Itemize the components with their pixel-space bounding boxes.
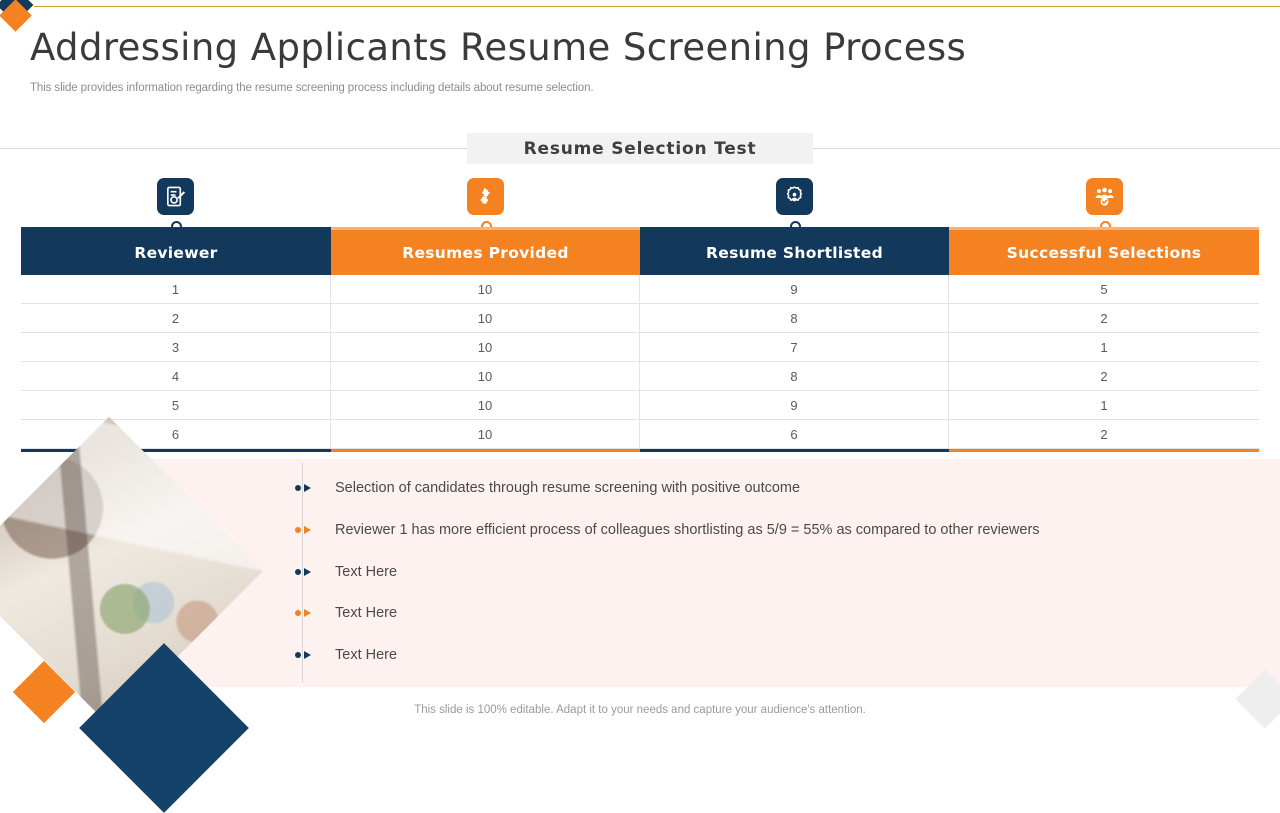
table-cell: 6 xyxy=(640,420,949,449)
table-cell: 7 xyxy=(640,333,949,362)
table-header-3[interactable]: Resume Shortlisted xyxy=(640,230,949,275)
table-row: 11095 xyxy=(21,275,1259,304)
bullet-text: Text Here xyxy=(335,647,397,663)
bullet-item: Text Here xyxy=(294,603,397,623)
table-cell: 10 xyxy=(331,275,640,304)
bullet-text: Text Here xyxy=(335,605,397,621)
table-cell: 2 xyxy=(949,420,1259,449)
table-bottom-accent-3 xyxy=(640,449,949,452)
table-cell: 1 xyxy=(949,333,1259,362)
table-bottom-accent-2 xyxy=(331,449,640,452)
table-cell: 10 xyxy=(331,391,640,420)
table-cell: 5 xyxy=(21,391,331,420)
bullet-item: Reviewer 1 has more efficient process of… xyxy=(294,520,1040,540)
table-cell: 2 xyxy=(949,362,1259,391)
gear-person-icon xyxy=(776,178,813,215)
bullet-item: Text Here xyxy=(294,562,397,582)
table-row: 61062 xyxy=(21,420,1259,449)
bullet-text: Reviewer 1 has more efficient process of… xyxy=(335,522,1040,538)
banner-rule-right xyxy=(812,148,1280,149)
table-cell: 6 xyxy=(21,420,331,449)
footer-note: This slide is 100% editable. Adapt it to… xyxy=(0,704,1280,716)
table-header-row: ReviewerResumes ProvidedResume Shortlist… xyxy=(21,230,1259,275)
page-subtitle: This slide provides information regardin… xyxy=(30,82,593,94)
table-header-2[interactable]: Resumes Provided xyxy=(331,230,640,275)
resume-selection-table: ReviewerResumes ProvidedResume Shortlist… xyxy=(21,227,1259,452)
document-pen-icon xyxy=(157,178,194,215)
table-row: 21082 xyxy=(21,304,1259,333)
bullet-text: Selection of candidates through resume s… xyxy=(335,480,800,496)
page-title: Addressing Applicants Resume Screening P… xyxy=(30,26,966,69)
bullet-arrow-icon xyxy=(294,648,316,662)
bullet-arrow-icon xyxy=(294,565,316,579)
table-cell: 10 xyxy=(331,304,640,333)
table-cell: 8 xyxy=(640,362,949,391)
table-cell: 1 xyxy=(21,275,331,304)
group-check-icon xyxy=(1086,178,1123,215)
bullet-arrow-icon xyxy=(294,606,316,620)
table-cell: 3 xyxy=(21,333,331,362)
bullet-text: Text Here xyxy=(335,564,397,580)
table-bottom-accent-4 xyxy=(949,449,1259,452)
table-cell: 2 xyxy=(949,304,1259,333)
table-cell: 10 xyxy=(331,362,640,391)
table-bottom-accent-1 xyxy=(21,449,331,452)
bullet-arrow-icon xyxy=(294,481,316,495)
table-cell: 5 xyxy=(949,275,1259,304)
puzzle-pieces-icon xyxy=(467,178,504,215)
section-banner: Resume Selection Test xyxy=(467,133,813,164)
table-header-1[interactable]: Reviewer xyxy=(21,230,331,275)
table-header-4[interactable]: Successful Selections xyxy=(949,230,1259,275)
table-cell: 9 xyxy=(640,275,949,304)
table-cell: 10 xyxy=(331,420,640,449)
table-cell: 4 xyxy=(21,362,331,391)
table-cell: 1 xyxy=(949,391,1259,420)
table-bottom-accent xyxy=(21,449,1259,452)
table-row: 31071 xyxy=(21,333,1259,362)
table-cell: 10 xyxy=(331,333,640,362)
bullet-item: Text Here xyxy=(294,645,397,665)
table-cell: 8 xyxy=(640,304,949,333)
table-row: 51091 xyxy=(21,391,1259,420)
top-gold-rule xyxy=(34,6,1280,7)
table-cell: 9 xyxy=(640,391,949,420)
table-row: 41082 xyxy=(21,362,1259,391)
bullet-arrow-icon xyxy=(294,523,316,537)
bullet-item: Selection of candidates through resume s… xyxy=(294,478,800,498)
table-cell: 2 xyxy=(21,304,331,333)
section-banner-label: Resume Selection Test xyxy=(524,139,757,159)
banner-rule-left xyxy=(0,148,468,149)
